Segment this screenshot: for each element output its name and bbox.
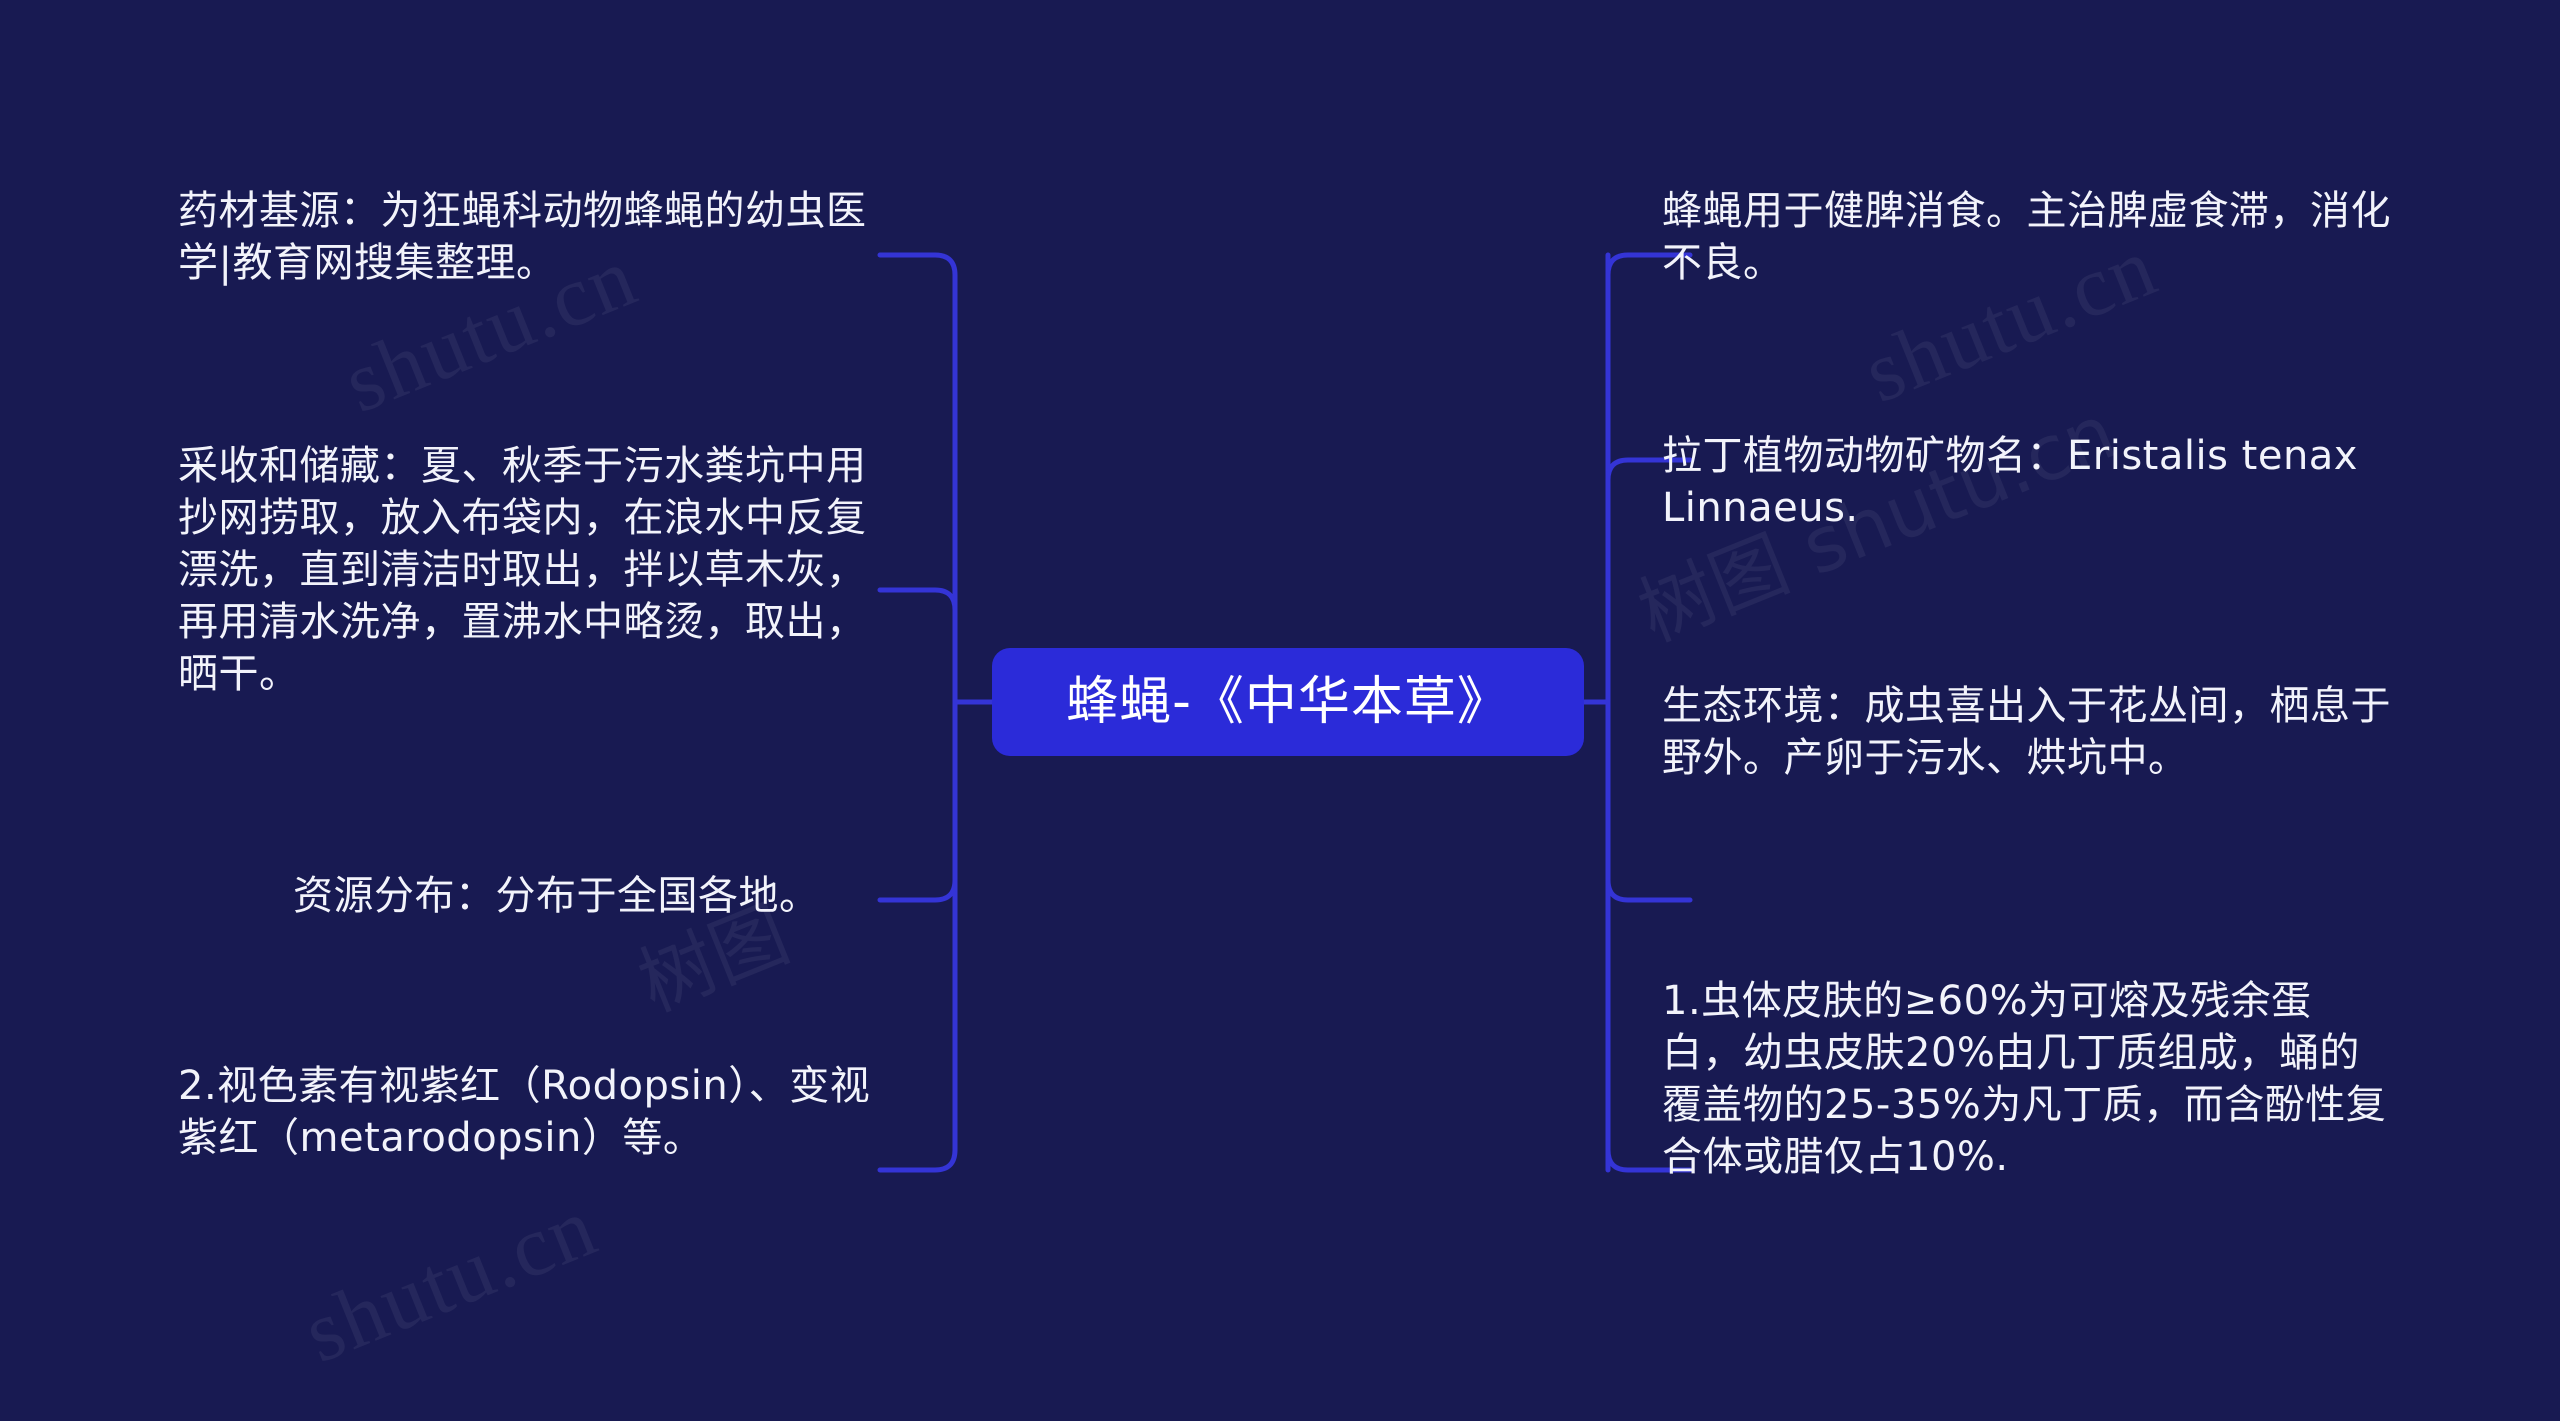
branch-label: 资源分布：分布于全国各地。 bbox=[293, 873, 820, 919]
branch-node-caishou-chucang[interactable]: 采收和储藏：夏、秋季于污水粪坑中用抄网捞取，放入布袋内，在浪水中反复漂洗，直到清… bbox=[178, 440, 898, 700]
branch-node-huaxue-chengfen[interactable]: 1.虫体皮肤的≥60%为可熔及残余蛋白，幼虫皮肤20%由几丁质组成，蛹的覆盖物的… bbox=[1662, 975, 2392, 1183]
branch-label: 拉丁植物动物矿物名：Eristalis tenax Linnaeus. bbox=[1662, 433, 2358, 531]
branch-label: 2.视色素有视紫红（Rodopsin）、变视紫红（metarodopsin）等。 bbox=[178, 1063, 870, 1161]
branch-node-shengtai-huanjing[interactable]: 生态环境：成虫喜出入于花丛间，栖息于野外。产卵于污水、烘坑中。 bbox=[1662, 680, 2392, 784]
branch-label: 蜂蝇用于健脾消食。主治脾虚食滞，消化不良。 bbox=[1662, 188, 2391, 286]
branch-node-lading-ming[interactable]: 拉丁植物动物矿物名：Eristalis tenax Linnaeus. bbox=[1662, 430, 2392, 534]
branch-label: 生态环境：成虫喜出入于花丛间，栖息于野外。产卵于污水、烘坑中。 bbox=[1662, 683, 2391, 781]
watermark-text: shutu.cn bbox=[290, 1176, 610, 1383]
root-node[interactable]: 蜂蝇-《中华本草》 bbox=[992, 648, 1584, 756]
branch-node-gongxiao[interactable]: 蜂蝇用于健脾消食。主治脾虚食滞，消化不良。 bbox=[1662, 185, 2392, 289]
branch-node-yaocai-jiyuan[interactable]: 药材基源：为狂蝇科动物蜂蝇的幼虫医学|教育网搜集整理。 bbox=[178, 185, 898, 289]
branch-label: 采收和储藏：夏、秋季于污水粪坑中用抄网捞取，放入布袋内，在浪水中反复漂洗，直到清… bbox=[178, 443, 867, 697]
branch-node-shisesu[interactable]: 2.视色素有视紫红（Rodopsin）、变视紫红（metarodopsin）等。 bbox=[178, 1060, 898, 1164]
branch-node-ziyuan-fenbu[interactable]: 资源分布：分布于全国各地。 bbox=[178, 870, 898, 922]
branch-label: 1.虫体皮肤的≥60%为可熔及残余蛋白，幼虫皮肤20%由几丁质组成，蛹的覆盖物的… bbox=[1662, 978, 2386, 1180]
root-node-label: 蜂蝇-《中华本草》 bbox=[1066, 676, 1510, 728]
right-connector-3 bbox=[1608, 880, 1690, 900]
mindmap-canvas: shutu.cn shutu.cn 树图 shutu.cn shutu.cn 树… bbox=[0, 0, 2560, 1421]
branch-label: 药材基源：为狂蝇科动物蜂蝇的幼虫医学|教育网搜集整理。 bbox=[178, 188, 867, 286]
